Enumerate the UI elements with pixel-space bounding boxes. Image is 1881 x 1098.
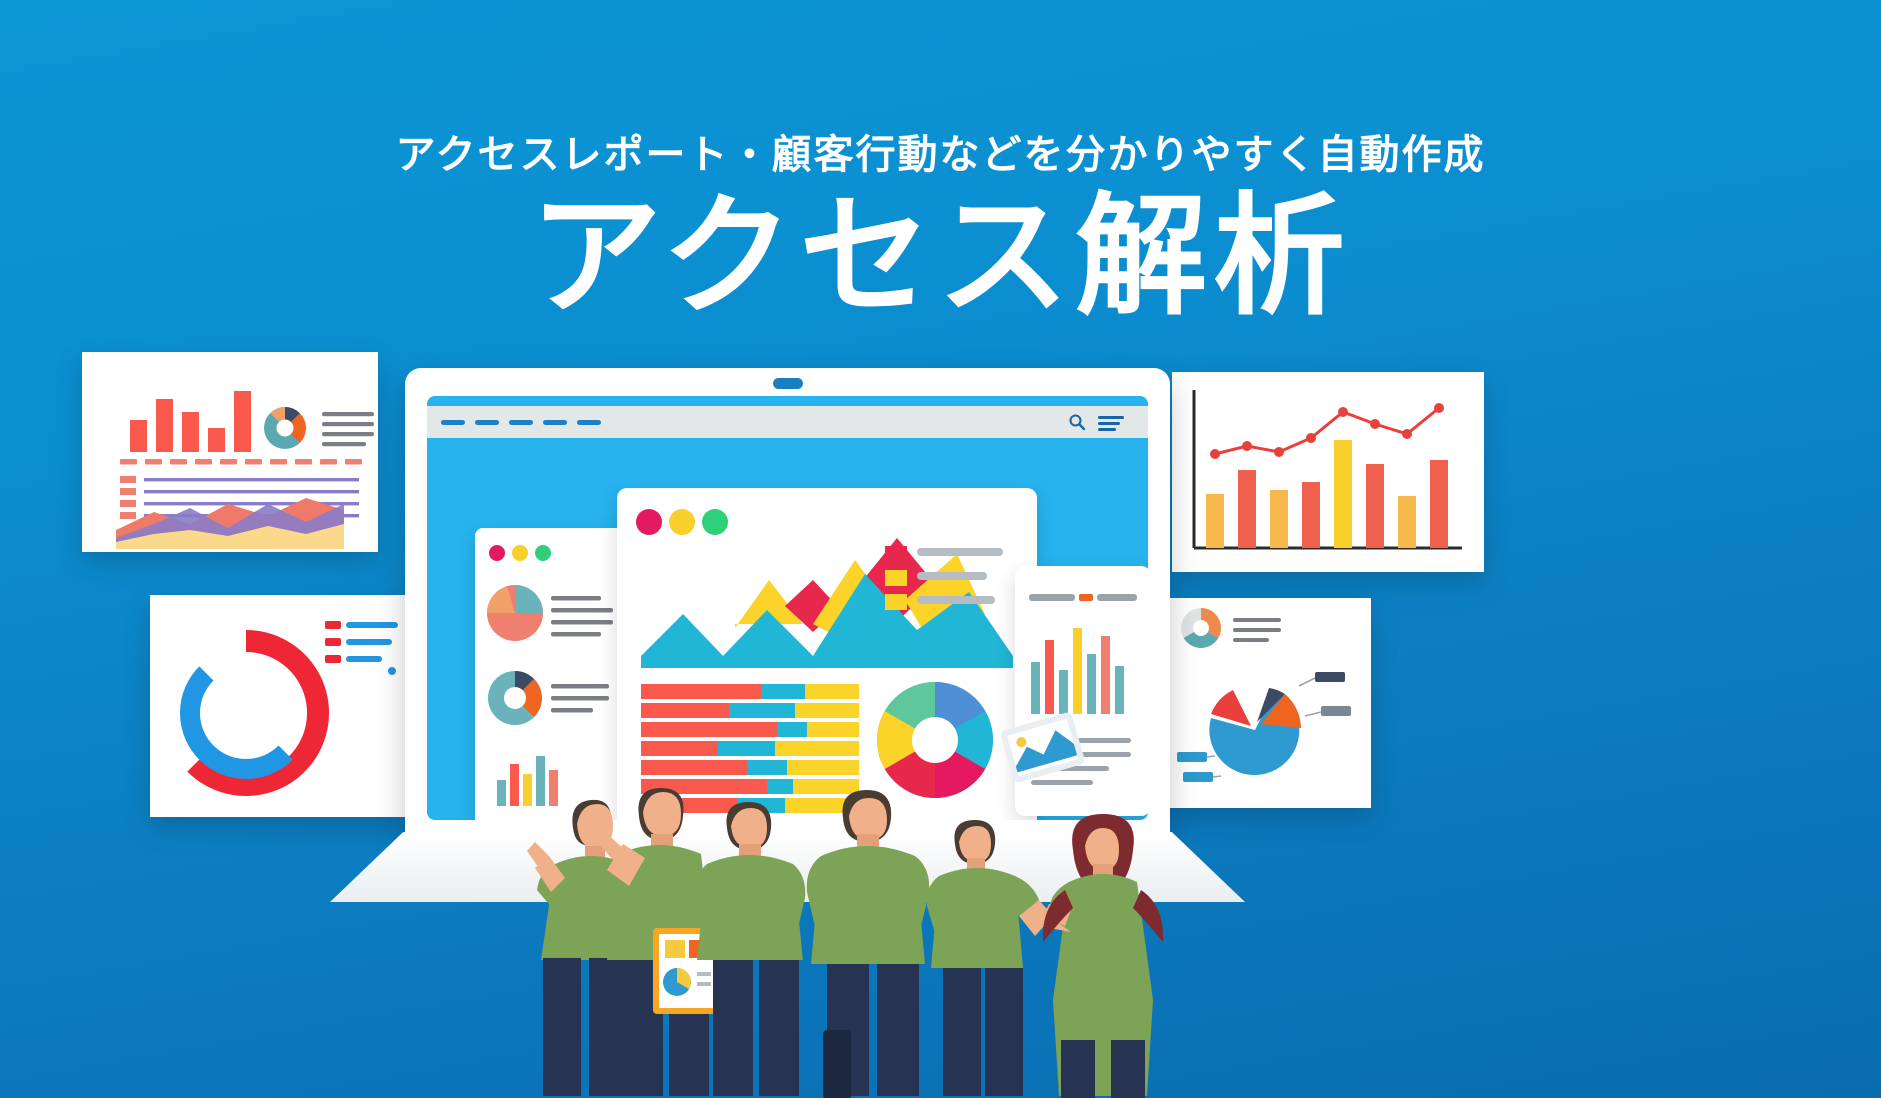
donut-chart-top-left <box>264 407 306 449</box>
mini-donut-legend <box>1233 618 1281 642</box>
person-hand-on-hip <box>927 820 1053 1096</box>
bottom-right-pie-graphics <box>1163 598 1371 808</box>
card-mid-left-ring <box>150 595 408 817</box>
legend-main <box>885 546 1003 610</box>
bar-series-right <box>1206 440 1448 548</box>
person-center-right <box>807 790 929 1098</box>
window-dot-yellow <box>512 545 528 561</box>
ring-legend <box>325 621 398 675</box>
browser-toolbar <box>427 406 1148 438</box>
hamburger-menu-icon[interactable] <box>1098 416 1124 429</box>
window-dot-red <box>636 509 662 535</box>
top-left-report-graphics <box>82 352 378 552</box>
card-right-line-bar <box>1172 372 1484 572</box>
pie-chart-left-panel <box>487 585 543 641</box>
hero-banner: アクセスレポート・顧客行動などを分かりやすく自動作成 アクセス解析 <box>0 0 1881 1098</box>
bar-chart-top-left <box>130 391 251 452</box>
pie-legend-left <box>551 596 613 637</box>
exploded-pie <box>1209 688 1301 775</box>
person-woman <box>1043 814 1163 1098</box>
people-group <box>425 700 1185 1098</box>
tag-row-right <box>1029 594 1137 601</box>
mid-left-ring-graphics <box>150 595 408 817</box>
banner-title: アクセス解析 <box>0 188 1881 327</box>
window-dot-red <box>489 545 505 561</box>
webcam-dot-icon <box>773 378 803 389</box>
window-dot-green <box>702 509 728 535</box>
line-series-right <box>1210 403 1444 459</box>
search-icon[interactable] <box>1068 413 1086 431</box>
card-bottom-right-pie <box>1163 598 1371 808</box>
banner-subtitle: アクセスレポート・顧客行動などを分かりやすく自動作成 <box>0 122 1881 180</box>
chart-axes <box>1194 390 1462 548</box>
card-top-left-report <box>82 352 378 552</box>
window-dot-green <box>535 545 551 561</box>
tablet-prop <box>1000 711 1086 783</box>
window-dot-yellow <box>669 509 695 535</box>
dashed-divider <box>120 459 362 465</box>
person-center-left <box>695 802 806 1096</box>
right-line-bar-graphics <box>1172 372 1484 572</box>
text-lines-top-left <box>322 412 374 446</box>
area-chart-top-left <box>116 498 344 549</box>
mini-donut <box>1181 608 1221 648</box>
ring-chart <box>190 641 318 785</box>
